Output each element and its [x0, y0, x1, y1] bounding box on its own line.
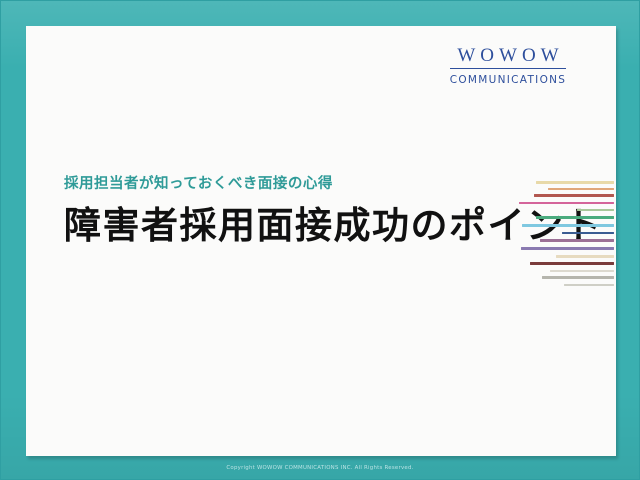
decorative-stripe [540, 239, 614, 242]
decorative-stripe [548, 188, 614, 190]
footer-band: Copyright WOWOW COMMUNICATIONS INC. All … [1, 455, 639, 479]
decorative-stripe [577, 209, 614, 211]
logo-wordmark: WOWOW [450, 46, 565, 69]
decorative-stripes [496, 181, 616, 301]
footer-divider [26, 455, 614, 456]
slide-title: 障害者採用面接成功のポイント [64, 204, 564, 248]
presentation-slide: WOWOW COMMUNICATIONS 採用担当者が知っておくべき面接の心得 … [0, 0, 640, 480]
decorative-stripe [562, 232, 614, 234]
decorative-stripe [519, 202, 614, 204]
decorative-stripe [534, 194, 614, 197]
slide-canvas: WOWOW COMMUNICATIONS 採用担当者が知っておくべき面接の心得 … [26, 26, 616, 456]
decorative-stripe [550, 270, 614, 272]
decorative-stripe [522, 224, 614, 227]
company-logo: WOWOW COMMUNICATIONS [408, 46, 608, 86]
slide-subtitle: 採用担当者が知っておくべき面接の心得 [64, 174, 564, 194]
decorative-stripe [530, 262, 614, 265]
decorative-stripe [542, 276, 614, 279]
decorative-stripe [564, 284, 614, 286]
decorative-stripe [536, 216, 614, 219]
logo-subtext: COMMUNICATIONS [408, 74, 608, 86]
copyright-text: Copyright WOWOW COMMUNICATIONS INC. All … [226, 465, 413, 471]
decorative-stripe [521, 247, 614, 250]
decorative-stripe [536, 181, 614, 184]
decorative-stripe [556, 255, 614, 258]
title-group: 採用担当者が知っておくべき面接の心得 障害者採用面接成功のポイント [64, 174, 564, 248]
